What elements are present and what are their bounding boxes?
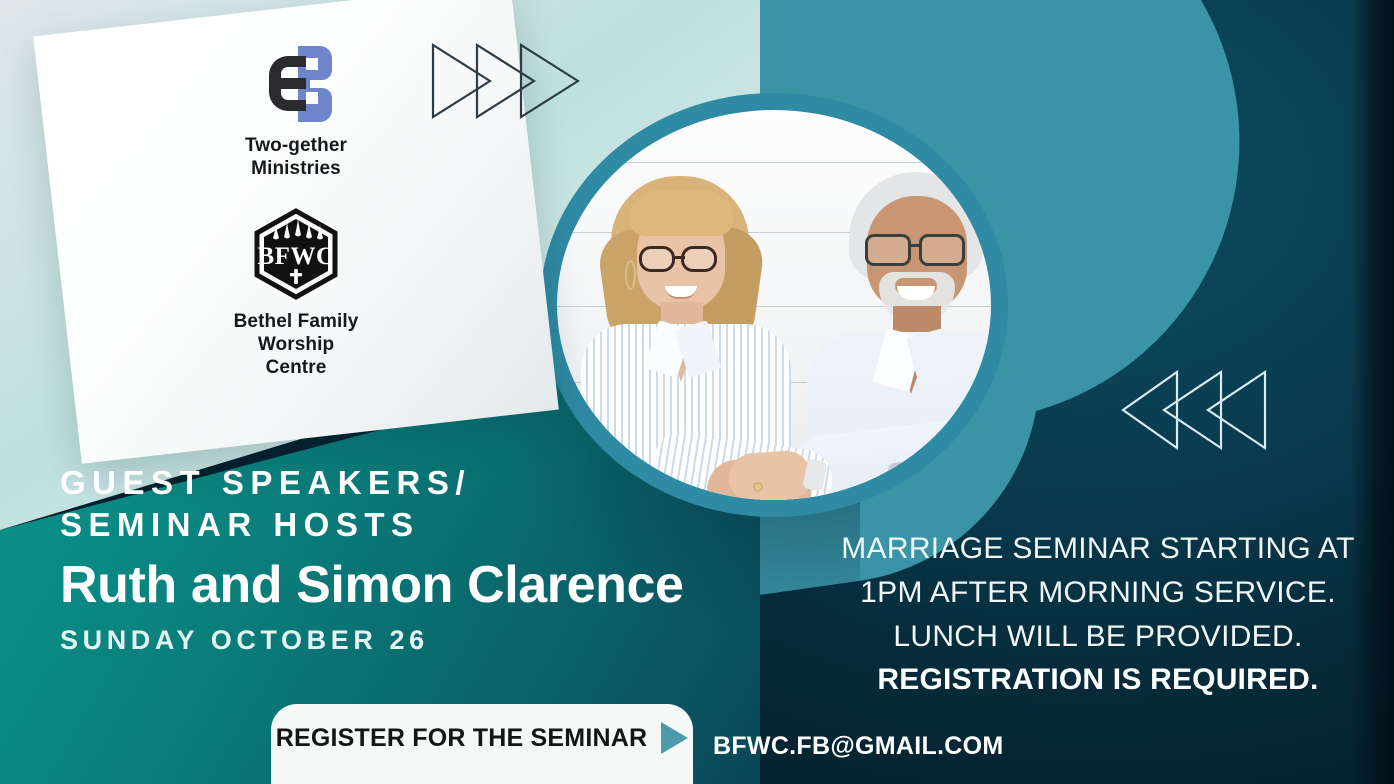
detail-line-1: MARRIAGE SEMINAR STARTING AT bbox=[815, 527, 1381, 571]
detail-line-2: 1PM AFTER MORNING SERVICE. bbox=[815, 571, 1381, 615]
man-glasses-left bbox=[865, 234, 911, 266]
triple-triangle-left-icon bbox=[1120, 368, 1268, 457]
woman-glasses-left bbox=[639, 246, 675, 272]
logo-bfwc-line1: Bethel Family bbox=[56, 310, 536, 333]
eyebrow-line2: SEMINAR HOSTS bbox=[60, 504, 800, 546]
man-glasses-right bbox=[919, 234, 965, 266]
eyebrow-line1: GUEST SPEAKERS/ bbox=[60, 462, 800, 504]
triple-triangle-right-icon bbox=[430, 42, 580, 125]
contact-email[interactable]: BFWC.FB@GMAIL.COM bbox=[713, 732, 1004, 761]
man-glasses-bridge bbox=[909, 244, 921, 247]
logo-two-gether-line1: Two-gether bbox=[56, 134, 536, 157]
interlocking-2b-icon bbox=[258, 44, 334, 122]
couple-portrait-photo bbox=[557, 110, 991, 500]
woman-glasses-bridge bbox=[675, 256, 685, 259]
event-date: SUNDAY OCTOBER 26 bbox=[60, 625, 800, 656]
portrait-ring bbox=[540, 93, 1008, 517]
logo-bfwc-line2: Worship bbox=[56, 333, 536, 356]
detail-line-4-registration: REGISTRATION IS REQUIRED. bbox=[815, 658, 1381, 702]
detail-line-3: LUNCH WILL BE PROVIDED. bbox=[815, 615, 1381, 659]
svg-text:BFWC: BFWC bbox=[258, 243, 335, 270]
seminar-details-block: MARRIAGE SEMINAR STARTING AT 1PM AFTER M… bbox=[815, 527, 1381, 702]
register-button[interactable]: REGISTER FOR THE SEMINAR bbox=[271, 704, 693, 784]
speaker-names: Ruth and Simon Clarence bbox=[60, 555, 800, 615]
woman-fringe bbox=[629, 190, 733, 236]
headline-block: GUEST SPEAKERS/ SEMINAR HOSTS Ruth and S… bbox=[60, 462, 800, 656]
bfwc-hex-badge-icon: BFWC bbox=[250, 208, 342, 300]
play-triangle-icon bbox=[661, 722, 688, 754]
event-flyer: Two-gether Ministries bbox=[0, 0, 1394, 784]
logo-bfwc-line3: Centre bbox=[56, 356, 536, 379]
woman-glasses-right bbox=[681, 246, 717, 272]
logo-bfwc: BFWC Bethel Family Worship Centre bbox=[56, 208, 536, 380]
logo-two-gether-line2: Ministries bbox=[56, 157, 536, 180]
woman-earring bbox=[625, 260, 636, 290]
man-watch bbox=[887, 460, 917, 491]
register-button-label: REGISTER FOR THE SEMINAR bbox=[276, 724, 648, 753]
